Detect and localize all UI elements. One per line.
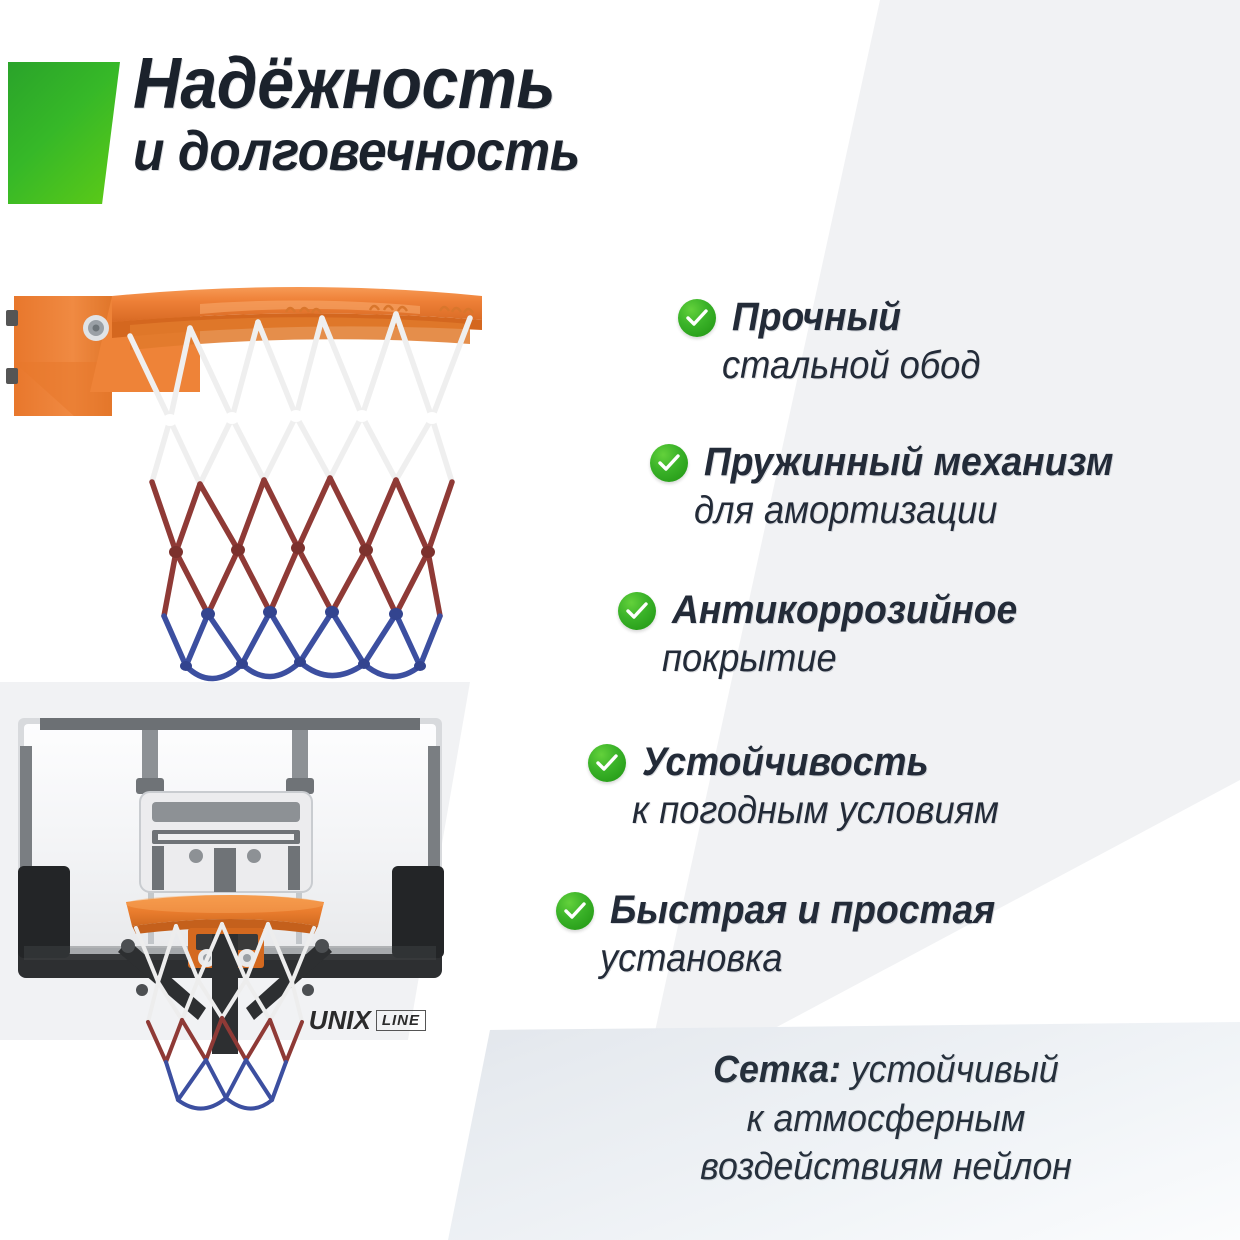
- green-accent-shape: [8, 62, 120, 204]
- feature-subtitle: для амортизации: [694, 489, 1113, 533]
- feature-title: Пружинный механизм: [704, 440, 1113, 485]
- feature-subtitle: установка: [600, 937, 994, 981]
- feature-title: Антикоррозийное: [672, 588, 1017, 633]
- feature-item-1[interactable]: Прочный стальной обод: [678, 295, 1000, 388]
- feature-title: Устойчивость: [642, 740, 929, 785]
- feature-subtitle: стальной обод: [722, 344, 980, 388]
- net-blue-band: [164, 612, 440, 679]
- feature-subtitle: к погодным условиям: [632, 789, 999, 833]
- net-callout-text: Сетка: устойчивый к атмосферным воздейст…: [556, 1046, 1216, 1192]
- feature-item-5[interactable]: Быстрая и простая установка: [556, 888, 1024, 981]
- net-callout-line2: к атмосферным: [576, 1095, 1196, 1144]
- feature-title: Быстрая и простая: [610, 888, 995, 933]
- feature-title: Прочный: [732, 295, 901, 340]
- feature-item-4[interactable]: Устойчивость к погодным условиям: [588, 740, 1026, 833]
- net-callout-line1: Сетка: устойчивый: [576, 1046, 1196, 1095]
- page-title-line1: Надёжность: [133, 50, 832, 120]
- logo-unix-text: UNIX: [309, 1005, 371, 1036]
- page-title: Надёжность и долговечность: [133, 50, 893, 178]
- logo-line-text: LINE: [376, 1010, 426, 1031]
- feature-item-2[interactable]: Пружинный механизм для амортизации: [650, 440, 1144, 533]
- backboard-illustration: UNIX LINE: [0, 690, 470, 1120]
- net-callout-line1-rest: устойчивый: [841, 1049, 1059, 1091]
- feature-item-3[interactable]: Антикоррозийное покрытие: [618, 588, 1043, 681]
- rim-illustration: [0, 270, 510, 690]
- page-title-line2: и долговечность: [133, 124, 832, 178]
- check-circle-icon: [556, 892, 594, 930]
- net-blue-knots: [180, 606, 426, 671]
- rim-hoop: [112, 287, 482, 350]
- backboard-net-blue: [166, 1060, 286, 1109]
- check-circle-icon: [678, 299, 716, 337]
- check-circle-icon: [650, 444, 688, 482]
- net-callout-line3: воздействиям нейлон: [576, 1143, 1196, 1192]
- infographic-canvas: Надёжность и долговечность: [0, 0, 1240, 1240]
- check-circle-icon: [618, 592, 656, 630]
- check-circle-icon: [588, 744, 626, 782]
- unix-line-logo: UNIX LINE: [309, 1005, 426, 1036]
- feature-subtitle: покрытие: [662, 637, 1016, 681]
- net-callout-label: Сетка:: [713, 1049, 841, 1091]
